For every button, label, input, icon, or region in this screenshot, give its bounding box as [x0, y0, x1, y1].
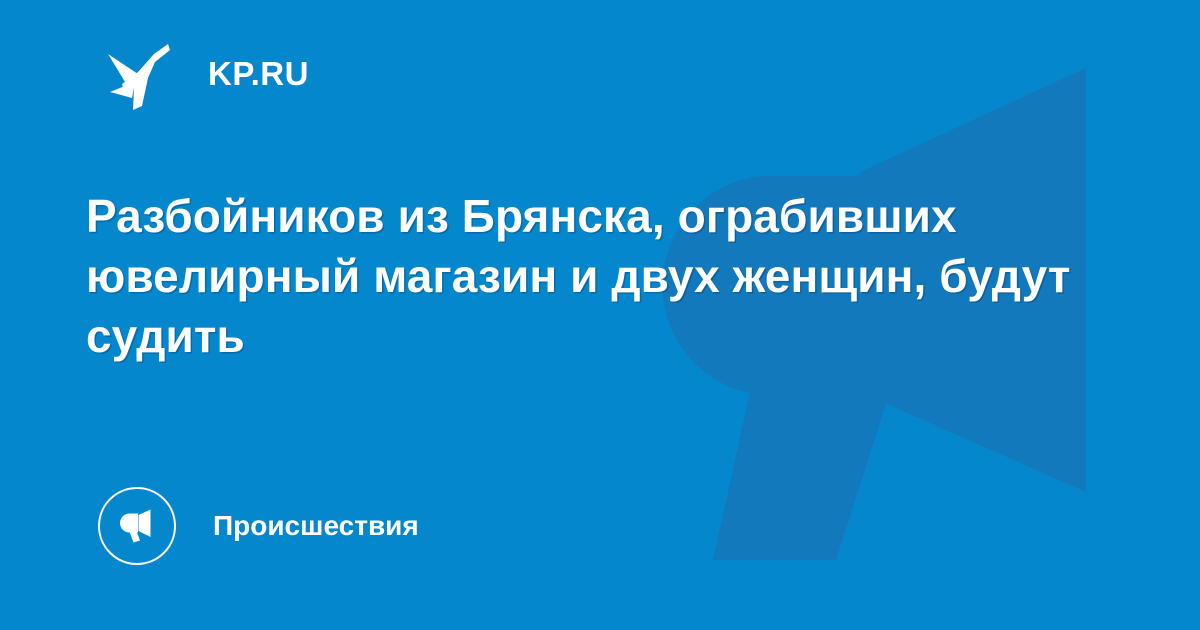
brand-name: KP.RU — [208, 57, 309, 90]
category-icon-circle — [98, 487, 176, 565]
category-badge[interactable]: Происшествия — [98, 487, 419, 565]
megaphone-icon — [116, 505, 158, 547]
swallow-bird-icon — [108, 36, 170, 110]
brand-header[interactable]: KP.RU — [108, 36, 309, 110]
headline: Разбойников из Брянска, ограбивших ювели… — [86, 186, 1076, 366]
social-share-card: KP.RU Разбойников из Брянска, ограбивших… — [0, 0, 1200, 630]
category-label: Происшествия — [213, 512, 419, 540]
